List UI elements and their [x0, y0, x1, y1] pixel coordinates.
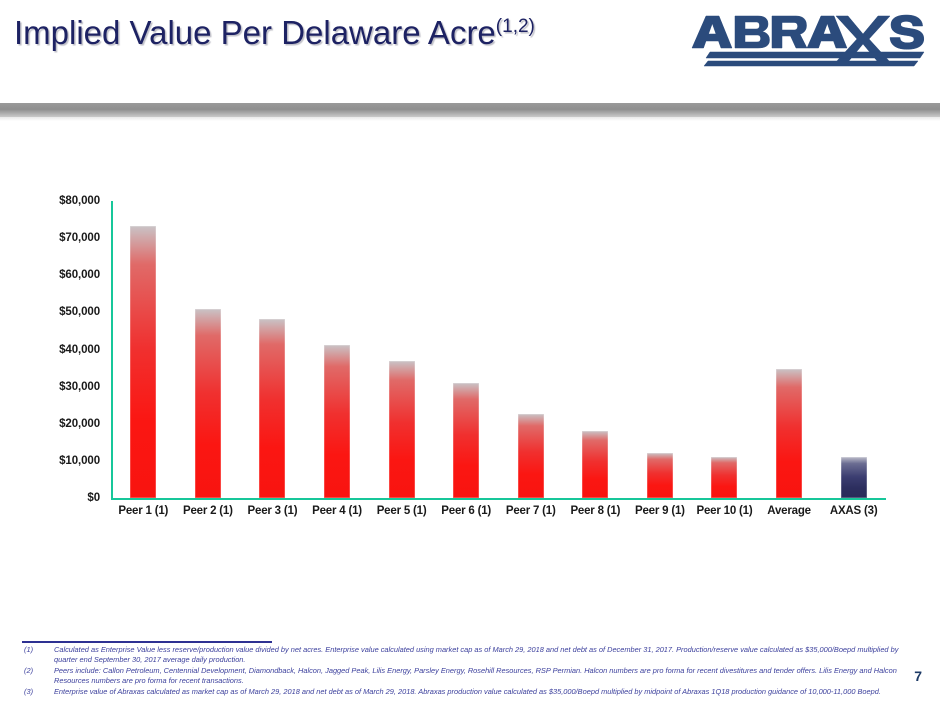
x-axis-tick-label: Peer 10 (1)	[692, 505, 757, 517]
x-axis-tick-label: Peer 1 (1)	[111, 505, 176, 517]
footnote-marker: (3)	[24, 687, 54, 697]
x-axis-tick-label: Peer 5 (1)	[369, 505, 434, 517]
y-axis-tick-label: $60,000	[59, 269, 100, 281]
footnote-item: (3)Enterprise value of Abraxas calculate…	[24, 687, 914, 697]
bar-peer-8-1	[582, 431, 608, 498]
divider-fade	[0, 117, 940, 121]
footnotes: (1)Calculated as Enterprise Value less r…	[24, 645, 914, 698]
page-title: Implied Value Per Delaware Acre(1,2)	[14, 14, 535, 52]
footnote-text: Calculated as Enterprise Value less rese…	[54, 645, 914, 665]
bar-slot	[498, 201, 563, 498]
x-axis-tick-label: AXAS (3)	[821, 505, 886, 517]
footnote-marker: (2)	[24, 666, 54, 676]
bar-slot	[692, 201, 757, 498]
divider-navy-band	[0, 88, 940, 103]
footnote-item: (1)Calculated as Enterprise Value less r…	[24, 645, 914, 665]
bar-slot	[434, 201, 499, 498]
footnote-marker: (1)	[24, 645, 54, 655]
footnote-divider	[22, 641, 272, 643]
footnote-text: Enterprise value of Abraxas calculated a…	[54, 687, 914, 697]
x-axis-tick-label: Peer 2 (1)	[176, 505, 241, 517]
x-axis: Peer 1 (1)Peer 2 (1)Peer 3 (1)Peer 4 (1)…	[111, 505, 886, 517]
y-axis-tick-label: $30,000	[59, 381, 100, 393]
bar-peer-6-1	[453, 383, 479, 498]
y-axis-tick-label: $10,000	[59, 455, 100, 467]
page-title-superscript: (1,2)	[496, 16, 535, 37]
bar-peer-9-1	[647, 453, 673, 498]
bar-peer-1-1	[130, 226, 156, 498]
bar-peer-10-1	[711, 457, 737, 498]
x-axis-tick-label: Peer 8 (1)	[563, 505, 628, 517]
x-axis-tick-label: Peer 6 (1)	[434, 505, 499, 517]
bar-slot	[369, 201, 434, 498]
divider-grey-band	[0, 103, 940, 117]
y-axis-tick-label: $20,000	[59, 418, 100, 430]
x-axis-tick-label: Average	[757, 505, 822, 517]
bar-peer-2-1	[195, 309, 221, 498]
x-axis-line	[111, 498, 886, 500]
bar-peer-3-1	[259, 319, 285, 498]
bars-container	[111, 201, 886, 498]
bar-peer-4-1	[324, 345, 350, 498]
page-number: 7	[914, 668, 922, 684]
y-axis-tick-label: $40,000	[59, 344, 100, 356]
bar-peer-5-1	[389, 361, 415, 498]
bar-slot	[240, 201, 305, 498]
bar-slot	[176, 201, 241, 498]
x-axis-tick-label: Peer 4 (1)	[305, 505, 370, 517]
bar-slot	[111, 201, 176, 498]
bar-chart: $80,000$70,000$60,000$50,000$40,000$30,0…	[0, 150, 940, 550]
y-axis-tick-label: $50,000	[59, 306, 100, 318]
bar-slot	[757, 201, 822, 498]
footnote-text: Peers include: Callon Petroleum, Centenn…	[54, 666, 914, 686]
y-axis-tick-label: $70,000	[59, 232, 100, 244]
footnote-item: (2)Peers include: Callon Petroleum, Cent…	[24, 666, 914, 686]
x-axis-tick-label: Peer 7 (1)	[498, 505, 563, 517]
x-axis-tick-label: Peer 9 (1)	[628, 505, 693, 517]
bar-axas-3	[841, 457, 867, 498]
y-axis-tick-label: $0	[87, 492, 100, 504]
bar-slot	[305, 201, 370, 498]
bar-slot	[563, 201, 628, 498]
bar-peer-7-1	[518, 414, 544, 498]
x-axis-tick-label: Peer 3 (1)	[240, 505, 305, 517]
page-title-text: Implied Value Per Delaware Acre	[14, 14, 496, 51]
plot-area	[111, 201, 886, 498]
y-axis-tick-label: $80,000	[59, 195, 100, 207]
bar-average	[776, 369, 802, 498]
slide-header: Implied Value Per Delaware Acre(1,2)	[0, 0, 940, 88]
header-divider	[0, 88, 940, 121]
y-axis: $80,000$70,000$60,000$50,000$40,000$30,0…	[38, 194, 100, 494]
bar-slot	[821, 201, 886, 498]
bar-slot	[628, 201, 693, 498]
abraxas-logo	[686, 8, 926, 70]
